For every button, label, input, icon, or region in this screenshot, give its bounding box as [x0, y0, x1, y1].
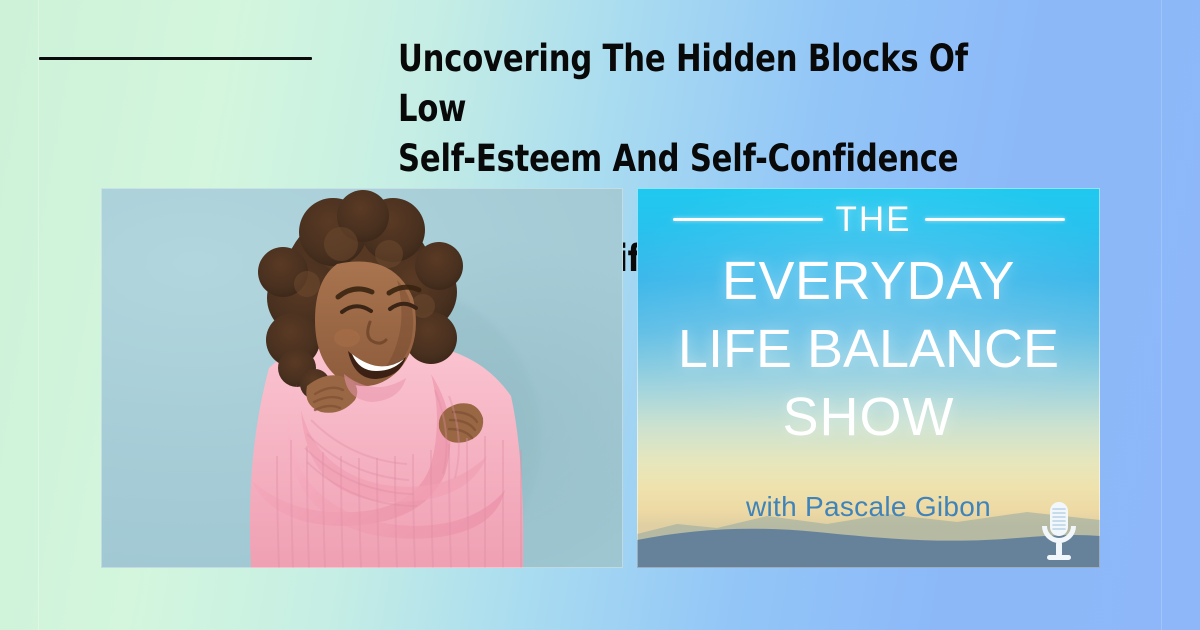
- top-left-divider: [39, 57, 312, 60]
- cover-host-byline: with Pascale Gibon: [637, 491, 1100, 523]
- microphone-icon: [1034, 498, 1084, 562]
- cover-title-line-3: SHOW: [637, 386, 1100, 448]
- cover-title-line-1: EVERYDAY: [637, 250, 1100, 312]
- background-seam: [38, 0, 39, 630]
- episode-cover-canvas: Uncovering The Hidden Blocks Of Low Self…: [0, 0, 1200, 630]
- guest-photo: [101, 188, 623, 568]
- cover-show-title: EVERYDAY LIFE BALANCE SHOW: [637, 250, 1100, 448]
- background-seam-right: [1161, 0, 1162, 630]
- cover-eyebrow-row: THE: [637, 202, 1100, 237]
- eyebrow-rule-left: [673, 218, 823, 221]
- podcast-cover-art: THE EVERYDAY LIFE BALANCE SHOW with Pasc…: [637, 188, 1100, 568]
- cover-eyebrow-text: THE: [836, 202, 912, 237]
- eyebrow-rule-right: [925, 218, 1065, 221]
- woman-hugging-herself-illustration: [101, 188, 623, 568]
- cover-title-line-2: LIFE BALANCE: [637, 318, 1100, 380]
